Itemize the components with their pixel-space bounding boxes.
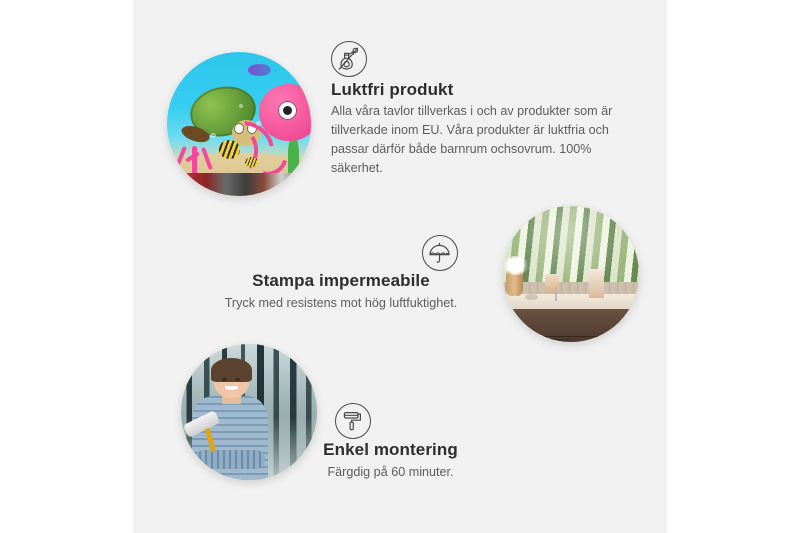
- feature-title: Enkel montering: [288, 440, 493, 460]
- yellow-striped-fish: [219, 140, 241, 159]
- feature-body: Alla våra tavlor tillverkas i och av pro…: [331, 102, 613, 178]
- painter-arms: [195, 450, 266, 469]
- vanity-cabinet: [511, 309, 639, 342]
- seaweed-decoration: [288, 136, 300, 173]
- photo-bottom-strip: [187, 173, 294, 196]
- soap-dish: [525, 294, 539, 299]
- hanging-towel: [589, 269, 604, 299]
- feature-title: Luktfri produkt: [331, 80, 453, 100]
- painter-eye: [222, 378, 227, 381]
- drawer-divider: [519, 336, 639, 337]
- cabinet-handle: [627, 336, 630, 341]
- faucet: [555, 288, 558, 302]
- underwater-cartoon-photo: [167, 52, 311, 196]
- feature-title: Stampa impermeabile: [222, 271, 460, 291]
- octopus-eye: [278, 101, 297, 120]
- painter-eye: [235, 378, 240, 381]
- purple-fish: [248, 64, 271, 77]
- bathroom-tropical-wallpaper-photo: [503, 206, 639, 342]
- bubble: [256, 121, 261, 126]
- painter-hair: [211, 358, 252, 382]
- paint-roller-icon: [335, 403, 371, 439]
- page-root: Luktfri produkt Alla våra tavlor tillver…: [0, 0, 800, 533]
- feature-body: Tryck med resistens mot hög luftfuktighe…: [210, 294, 472, 313]
- drawer-handle: [540, 339, 569, 340]
- no-odor-spray-bottle-icon: [331, 41, 367, 77]
- umbrella-icon: [422, 235, 458, 271]
- tile-backsplash: [503, 282, 639, 294]
- feature-body: Färgdig på 60 minuter.: [288, 463, 493, 482]
- small-striped-fish: [245, 157, 258, 167]
